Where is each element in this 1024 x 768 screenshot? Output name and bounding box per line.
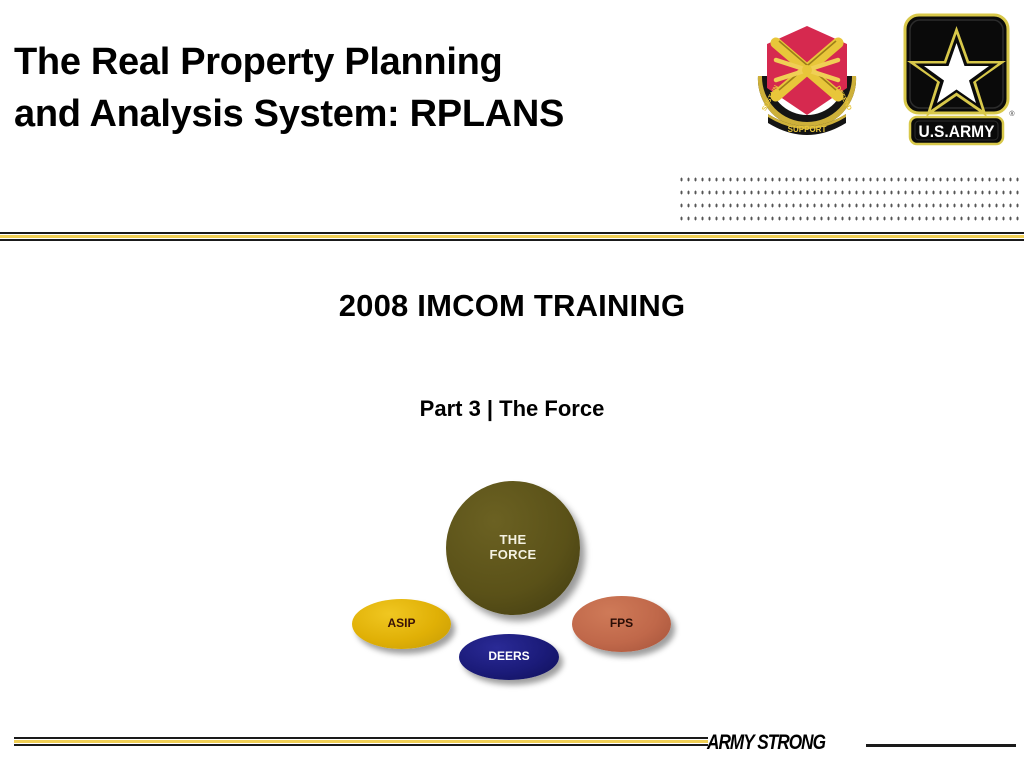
diagram-node-force: THE FORCE [446,481,580,615]
diagram-node-asip-label: ASIP [387,617,415,631]
part-subheading: Part 3 | The Force [0,396,1024,422]
diagram-node-fps: FPS [572,596,671,652]
dot-row [678,183,1022,196]
army-strong-wordmark: ARMY STRONG [707,731,825,755]
dot-texture [678,170,1022,216]
divider-black-bottom [14,744,708,746]
page-title-line-1: The Real Property Planning [14,36,734,88]
dot-row [678,170,1022,183]
logo-row: SUPPORT SUSTAIN DEFEND ® [738,12,1020,147]
page-title: The Real Property Planning and Analysis … [14,36,734,141]
imcom-motto-bottom: SUPPORT [788,125,827,134]
dot-row [678,196,1022,209]
footer-divider [14,737,708,748]
force-systems-diagram: THE FORCE ASIP DEERS FPS [340,468,690,690]
slide-canvas: The Real Property Planning and Analysis … [0,0,1024,768]
dot-row [678,209,1022,222]
page-title-line-2: and Analysis System: RPLANS [14,88,734,140]
diagram-node-fps-label: FPS [610,617,633,631]
force-label-line-2: FORCE [490,547,537,562]
diagram-node-force-label: THE FORCE [490,533,537,563]
us-army-logo-icon: ® U.S.ARMY [900,12,1018,147]
footer-right-rule [866,744,1016,747]
army-wordmark: U.S.ARMY [919,122,996,141]
diagram-node-deers: DEERS [459,634,559,680]
diagram-node-asip: ASIP [352,599,451,649]
header-divider [0,232,1024,243]
divider-black-bottom [0,239,1024,241]
imcom-crest-icon: SUPPORT SUSTAIN DEFEND [746,16,868,141]
diagram-node-deers-label: DEERS [488,650,529,664]
force-label-line-1: THE [500,532,527,547]
training-heading: 2008 IMCOM TRAINING [0,288,1024,324]
registered-mark-icon: ® [1009,110,1015,118]
